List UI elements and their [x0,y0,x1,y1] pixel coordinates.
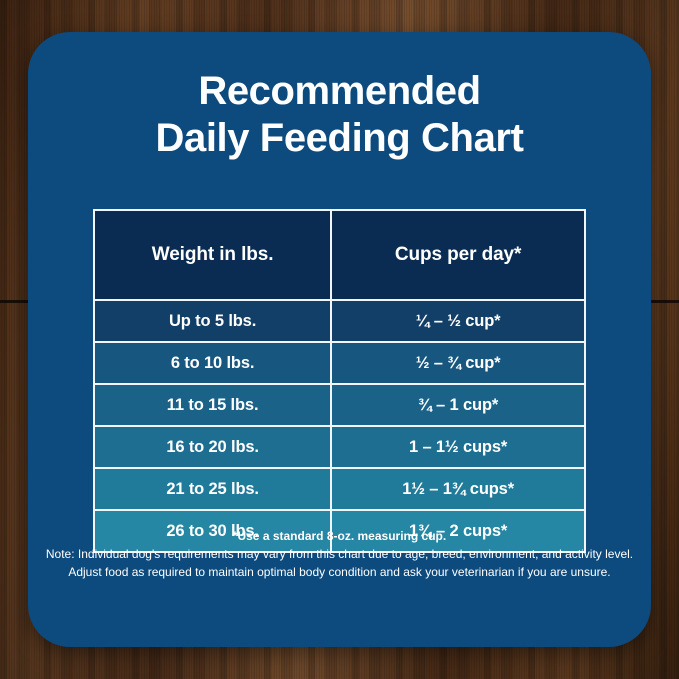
cell-cups: ½ – ¾ cup* [331,342,584,384]
cell-weight: 21 to 25 lbs. [95,468,331,510]
cell-cups: 1½ – 1¾ cups* [331,468,584,510]
cell-cups: ¾ – 1 cup* [331,384,584,426]
cell-cups: 1 – 1½ cups* [331,426,584,468]
feeding-chart-table: Weight in lbs. Cups per day* Up to 5 lbs… [93,209,586,553]
table-row: 16 to 20 lbs. 1 – 1½ cups* [95,426,584,468]
cell-cups: ¼ – ½ cup* [331,300,584,342]
table-row: Up to 5 lbs. ¼ – ½ cup* [95,300,584,342]
column-header-weight: Weight in lbs. [95,211,331,300]
footnote-note: Note: Individual dog's requirements may … [28,545,651,563]
footnote-measuring-cup: *Use a standard 8-oz. measuring cup. [28,527,651,545]
title-line-2: Daily Feeding Chart [28,115,651,162]
feeding-chart-card: Recommended Daily Feeding Chart Weight i… [28,32,651,647]
table-header-row: Weight in lbs. Cups per day* [95,211,584,300]
table-row: 21 to 25 lbs. 1½ – 1¾ cups* [95,468,584,510]
cell-weight: 16 to 20 lbs. [95,426,331,468]
footnote-adjust: Adjust food as required to maintain opti… [28,563,651,581]
footnotes: *Use a standard 8-oz. measuring cup. Not… [28,527,651,581]
cell-weight: 6 to 10 lbs. [95,342,331,384]
cell-weight: 11 to 15 lbs. [95,384,331,426]
title-line-1: Recommended [28,68,651,115]
page-title: Recommended Daily Feeding Chart [28,68,651,162]
table-row: 11 to 15 lbs. ¾ – 1 cup* [95,384,584,426]
column-header-cups: Cups per day* [331,211,584,300]
table-row: 6 to 10 lbs. ½ – ¾ cup* [95,342,584,384]
cell-weight: Up to 5 lbs. [95,300,331,342]
